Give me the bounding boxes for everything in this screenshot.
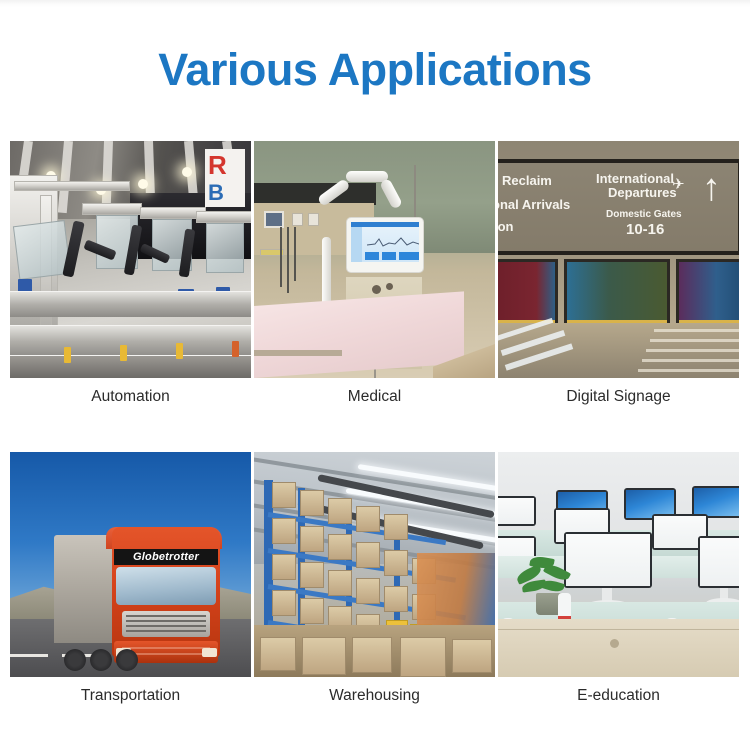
cabinet-knob (372, 285, 381, 294)
hall-banner: R B (205, 149, 245, 207)
sign-line-departures: Departures (608, 185, 677, 200)
sign-line-gates-range: 10-16 (626, 221, 664, 238)
application-caption-e-education: E-education (498, 677, 739, 715)
hospital-bed (254, 291, 464, 378)
medical-image[interactable]: 37 (254, 141, 495, 378)
cable (280, 227, 282, 287)
headwall-trim (254, 183, 376, 205)
monitor-screen (351, 222, 419, 262)
pallet-box (356, 542, 380, 568)
ceiling-strip (646, 349, 739, 352)
flight-display-center (564, 259, 670, 329)
desk-cabinet (498, 619, 739, 677)
application-caption-automation: Automation (10, 378, 251, 416)
pallet-box (300, 598, 324, 624)
application-caption-transportation: Transportation (10, 677, 251, 715)
machine-base (10, 355, 251, 378)
sign-line-gates-label: Domestic Gates (606, 209, 682, 220)
pallet-box (300, 490, 324, 516)
transportation-image[interactable]: Globetrotter (10, 452, 251, 677)
floor-box (352, 637, 392, 673)
banner-letter-bottom: B (208, 179, 245, 207)
top-divider-band (0, 0, 750, 7)
application-caption-digital-signage: Digital Signage (498, 378, 739, 416)
ceiling-strip (654, 329, 739, 332)
application-card-e-education[interactable]: E-education (498, 452, 739, 715)
applications-grid: R B (10, 141, 740, 715)
cabinet-knob (386, 283, 393, 290)
ceiling-strip (650, 339, 739, 342)
application-card-digital-signage[interactable]: Reclaim onal Arrivals ion International … (498, 141, 739, 416)
screen-button[interactable] (382, 252, 396, 260)
application-card-automation[interactable]: R B (10, 141, 251, 416)
pallet-box (356, 506, 380, 532)
application-card-medical[interactable]: 37 Medical (254, 141, 495, 416)
sign-line-arrivals: onal Arrivals (498, 197, 570, 212)
pallet-box (300, 562, 324, 588)
road-marking (10, 654, 48, 657)
trailer-wheel (64, 649, 86, 671)
pallet-box (384, 586, 408, 612)
sign-line-partial: ion (498, 219, 514, 234)
safety-marker (232, 341, 239, 357)
floor-box (302, 637, 346, 675)
machine-gantry (82, 203, 142, 215)
pallet-box (356, 578, 380, 604)
digital-signage-image[interactable]: Reclaim onal Arrivals ion International … (498, 141, 739, 378)
wall-outlet (308, 213, 319, 226)
bed-frame (254, 350, 342, 356)
screen-sidebar (351, 227, 362, 262)
ceiling-lamp (138, 179, 148, 189)
page-title: Various Applications (0, 42, 750, 98)
floor-box (400, 637, 446, 677)
machine-window (206, 223, 244, 273)
cable (287, 227, 289, 293)
application-card-transportation[interactable]: Globetrotter Transportati (10, 452, 251, 715)
arrow-up-icon: ↑ (702, 169, 721, 207)
floor-box (260, 637, 296, 671)
e-education-image[interactable] (498, 452, 739, 677)
safety-marker (64, 347, 71, 363)
pallet-box (300, 526, 324, 552)
plant-leaf (541, 578, 565, 594)
cab-brand-text: Globetrotter (133, 551, 199, 563)
cab-wheel (116, 649, 138, 671)
screen-button[interactable] (399, 252, 413, 260)
pallet-box (272, 518, 296, 544)
floor-box (452, 639, 492, 673)
arm-post (414, 165, 416, 219)
banner-letter-top: R (208, 150, 227, 180)
screen-button[interactable] (365, 252, 379, 260)
application-showcase-page: Various Applications (0, 0, 750, 743)
waveform-graphic (367, 236, 419, 249)
ceiling-strip (642, 359, 739, 362)
wall-control-panel (264, 211, 284, 228)
pallet-box (328, 570, 352, 596)
machine-rail-top (14, 181, 130, 191)
sign-line-international: International (596, 171, 674, 186)
cab-brand-band: Globetrotter (114, 549, 218, 565)
wall-outlet (292, 213, 303, 226)
trailer-wheel (90, 649, 112, 671)
application-caption-medical: Medical (254, 378, 495, 416)
medical-monitor[interactable] (346, 217, 424, 273)
flight-display-right (676, 259, 739, 329)
pallet-box (384, 514, 408, 540)
conveyor-upper (10, 291, 251, 317)
headlight (202, 648, 217, 657)
safety-marker (176, 343, 183, 359)
airplane-icon: ✈ (672, 175, 685, 193)
monitor-front-right[interactable] (698, 536, 739, 588)
cabinet-knob[interactable] (610, 639, 619, 648)
conveyor-lower (10, 325, 251, 357)
pallet-box (384, 550, 408, 576)
application-caption-warehousing: Warehousing (254, 677, 495, 715)
windshield (116, 567, 216, 605)
automation-image[interactable]: R B (10, 141, 251, 378)
wayfinding-sign: Reclaim onal Arrivals ion International … (498, 159, 739, 255)
pallet-box (328, 498, 352, 524)
ceiling-lamp (182, 167, 192, 177)
screen-button[interactable] (413, 252, 419, 260)
pallet-box (272, 482, 296, 508)
pallet-box (272, 590, 296, 616)
applications-row-2: Globetrotter Transportati (10, 452, 740, 715)
application-card-warehousing[interactable]: Warehousing (254, 452, 495, 715)
applications-row-1: R B (10, 141, 740, 416)
pallet-box (328, 534, 352, 560)
safety-marker (120, 345, 127, 361)
monitor-back-row[interactable] (498, 496, 536, 526)
cable (294, 227, 296, 281)
ceiling-strip (638, 369, 739, 372)
warehousing-image[interactable] (254, 452, 495, 677)
front-grille (122, 611, 210, 637)
sign-line-reclaim: Reclaim (502, 173, 552, 188)
machine-gantry (196, 211, 251, 223)
pallet-box (272, 554, 296, 580)
